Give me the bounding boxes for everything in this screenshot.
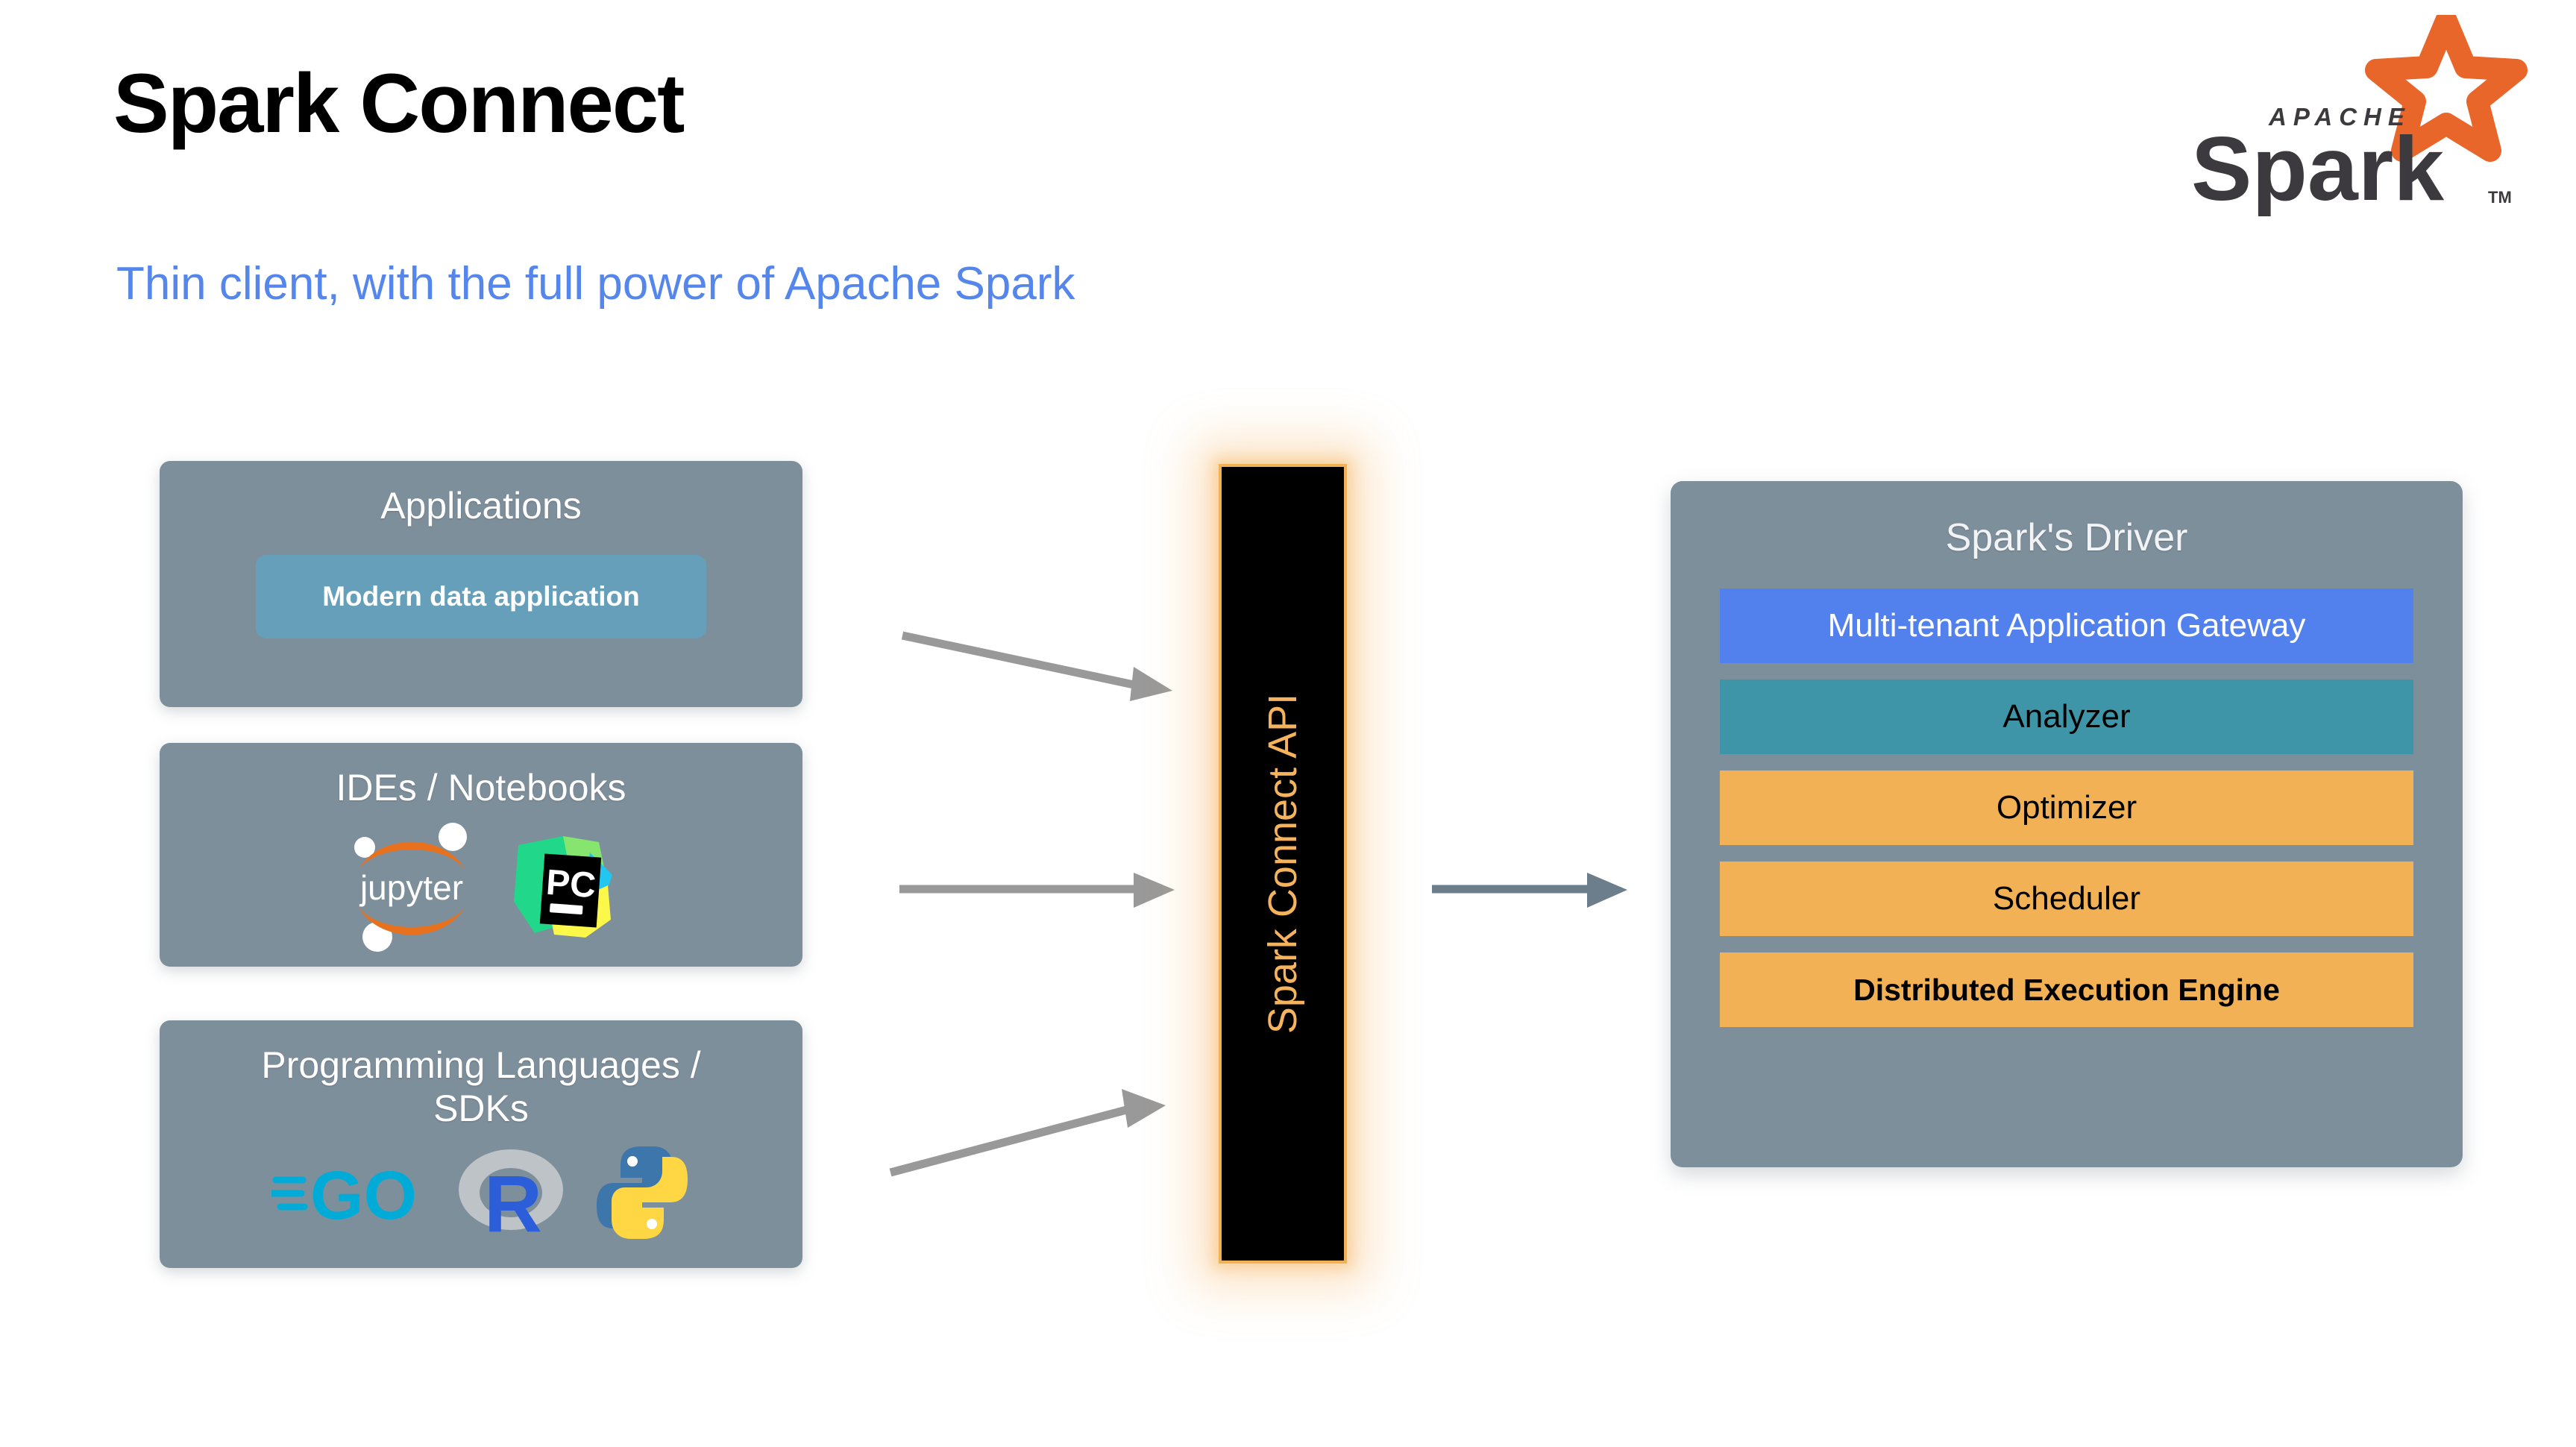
page-subtitle: Thin client, with the full power of Apac… xyxy=(116,257,1075,310)
driver-layer-label: Distributed Execution Engine xyxy=(1853,973,2280,1008)
driver-layer-distributed-execution-engine[interactable]: Distributed Execution Engine xyxy=(1720,952,2413,1027)
trademark-mark: TM xyxy=(2488,188,2512,207)
driver-layer-label: Analyzer xyxy=(2002,698,2130,735)
arrow-languages-to-api xyxy=(879,1059,1237,1186)
spark-connect-api-label: Spark Connect API xyxy=(1260,694,1306,1034)
client-box-programming-languages[interactable]: Programming Languages / SDKs GO R xyxy=(160,1020,802,1268)
go-logo-icon: GO xyxy=(271,1152,428,1234)
driver-layer-label: Optimizer xyxy=(1997,789,2137,826)
apache-spark-logo-svg: APACHE Spark TM xyxy=(2155,15,2528,216)
python-logo-icon xyxy=(594,1143,691,1242)
driver-layer-scheduler[interactable]: Scheduler xyxy=(1720,861,2413,936)
driver-layer-label: Multi-tenant Application Gateway xyxy=(1828,607,2306,644)
arrow-ides-to-api xyxy=(888,865,1245,925)
go-wordmark: GO xyxy=(310,1158,417,1234)
modern-data-application-chip[interactable]: Modern data application xyxy=(256,555,706,638)
client-box-title: Programming Languages / SDKs xyxy=(261,1044,700,1130)
r-letter: R xyxy=(484,1158,542,1245)
driver-layer-stack: Multi-tenant Application Gateway Analyze… xyxy=(1671,588,2463,1027)
ide-logo-row: jupyter PC xyxy=(160,820,802,952)
pycharm-logo-icon: PC xyxy=(508,830,620,942)
client-box-ides-notebooks[interactable]: IDEs / Notebooks jupyter PC xyxy=(160,743,802,967)
driver-layer-label: Scheduler xyxy=(1993,880,2140,917)
jupyter-logo-icon: jupyter xyxy=(342,820,481,952)
apache-spark-logo: APACHE Spark TM xyxy=(2155,15,2528,216)
driver-layer-analyzer[interactable]: Analyzer xyxy=(1720,679,2413,754)
page-title: Spark Connect xyxy=(113,60,683,148)
driver-layer-gateway[interactable]: Multi-tenant Application Gateway xyxy=(1720,588,2413,663)
client-box-title-line2: SDKs xyxy=(433,1087,529,1129)
arrow-api-to-driver xyxy=(1424,865,1656,925)
arrow-applications-to-api xyxy=(888,619,1245,723)
client-box-title-line1: Programming Languages / xyxy=(261,1044,700,1086)
client-box-title: IDEs / Notebooks xyxy=(336,767,626,810)
driver-layer-optimizer[interactable]: Optimizer xyxy=(1720,770,2413,845)
client-box-applications[interactable]: Applications Modern data application xyxy=(160,461,802,707)
r-logo-icon: R xyxy=(455,1140,567,1245)
spark-driver-box[interactable]: Spark's Driver Multi-tenant Application … xyxy=(1671,481,2463,1167)
spark-connect-api-bar[interactable]: Spark Connect API xyxy=(1219,464,1347,1264)
spark-wordmark: Spark xyxy=(2191,118,2444,216)
modern-data-application-label: Modern data application xyxy=(322,581,640,612)
pycharm-letters: PC xyxy=(544,862,597,905)
client-box-title: Applications xyxy=(380,485,582,528)
spark-driver-title: Spark's Driver xyxy=(1946,515,2188,560)
language-logo-row: GO R xyxy=(160,1140,802,1245)
jupyter-wordmark: jupyter xyxy=(359,868,463,907)
